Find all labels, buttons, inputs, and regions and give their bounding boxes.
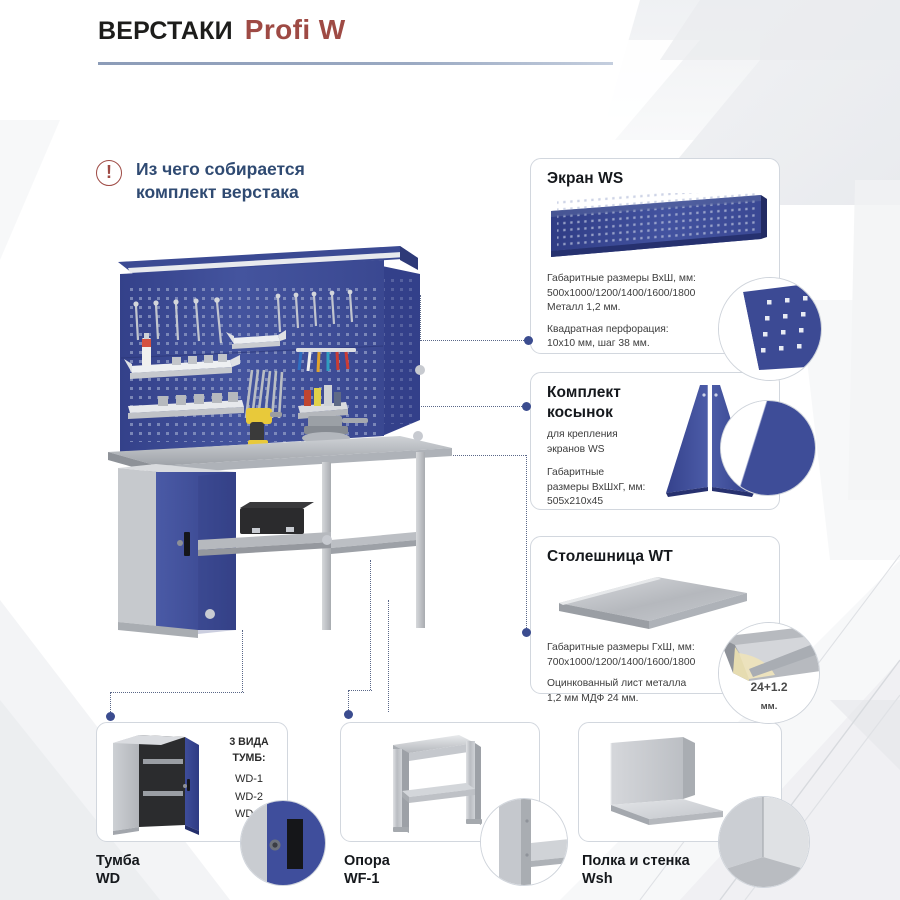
section-heading-line1: Из чего собирается [136,158,305,181]
support-joint-detail-bubble [480,798,568,886]
connector-line-worktop-vert [526,455,527,632]
brackets-title-line2: косынок [547,404,621,422]
connector-dot-cabinet [106,712,115,721]
connector-line-support-horz [348,690,372,691]
connector-line-cabinet-horz [110,692,244,693]
screen-spec1-line3: Металл 1,2 мм. [547,302,620,313]
cabinet-variant-1: WD-1 [215,771,283,789]
workbench-illustration [100,240,460,650]
worktop-spec1-line1: Габаритные размеры ГхШ, мм: [547,642,695,653]
worktop-spec1-line2: 700х1000/1200/1400/1600/1800 [547,657,695,668]
support-caption-line2: WF-1 [344,870,390,888]
shelf-caption-line2: Wsh [582,870,690,888]
worktop-spec2-line1: Оцинкованный лист металла [547,678,686,689]
screen-spec2-line2: 10х10 мм, шаг 38 мм. [547,338,650,349]
shelf-caption-line1: Полка и стенка [582,852,690,870]
cabinet-lock-detail-bubble [240,800,326,886]
shelf-illustration [605,737,729,829]
title-divider [98,62,613,65]
cabinet-caption: Тумба WD [96,852,140,888]
screen-spec2-line1: Квадратная перфорация: [547,324,669,335]
card-worktop-title: Столешница WT [547,548,673,566]
connector-dot-worktop [522,628,531,637]
worktop-bubble-label-line2: мм. [761,701,778,712]
connector-line-support-drop [348,690,349,712]
brackets-title-line1: Комплект [547,384,621,402]
connector-dot-screen [524,336,533,345]
cabinet-caption-line1: Тумба [96,852,140,870]
exclamation-icon: ! [96,160,122,186]
worktop-bubble-label: 24+1.2 мм. [718,678,820,714]
support-caption: Опора WF-1 [344,852,390,888]
page-title: ВЕРСТАКИProfi W [98,14,346,46]
connector-line-cabinet-drop [110,692,111,714]
section-heading-line2: комплект верстака [136,181,305,204]
brackets-detail-bubble [720,400,816,496]
connector-dot-brackets [522,402,531,411]
support-caption-line1: Опора [344,852,390,870]
cabinet-caption-line2: WD [96,870,140,888]
worktop-illustration [553,573,753,635]
section-heading: ! Из чего собирается комплект верстака [96,158,305,204]
screen-spec1-line2: 500х1000/1200/1400/1600/1800 [547,288,695,299]
shelf-caption: Полка и стенка Wsh [582,852,690,888]
cabinet-note-line1: 3 ВИДА [229,736,268,748]
exclamation-glyph: ! [106,163,112,181]
title-brand: Profi W [245,14,346,45]
cabinet-note-line2: ТУМБ: [232,752,265,764]
brackets-sub-line2: экранов WS [547,444,605,455]
cabinet-variant-note: 3 ВИДА ТУМБ: [215,735,283,767]
worktop-spec2-line2: 1,2 мм МДФ 24 мм. [547,693,639,704]
brackets-spec-line2: размеры ВхШхГ, мм: [547,482,645,493]
brackets-spec-line1: Габаритные [547,467,604,478]
card-brackets-spec: Габаритные размеры ВхШхГ, мм: 505х210х45 [547,466,645,510]
brackets-spec-line3: 505х210х45 [547,496,603,507]
shelf-corner-detail-bubble [718,796,810,888]
card-brackets-sub: для крепления экранов WS [547,428,618,457]
worktop-bubble-label-line1: 24+1.2 [750,680,787,694]
screen-spec1-line1: Габаритные размеры ВхШ, мм: [547,273,696,284]
screen-perforation-detail-bubble [718,277,822,381]
cabinet-illustration [109,731,209,835]
brackets-sub-line1: для крепления [547,429,618,440]
support-illustration [377,731,485,835]
title-prefix: ВЕРСТАКИ [98,17,233,45]
screen-ws-illustration [547,193,769,265]
card-screen-title: Экран WS [547,170,623,188]
connector-dot-support [344,710,353,719]
card-brackets-title: Комплект косынок [547,384,621,422]
